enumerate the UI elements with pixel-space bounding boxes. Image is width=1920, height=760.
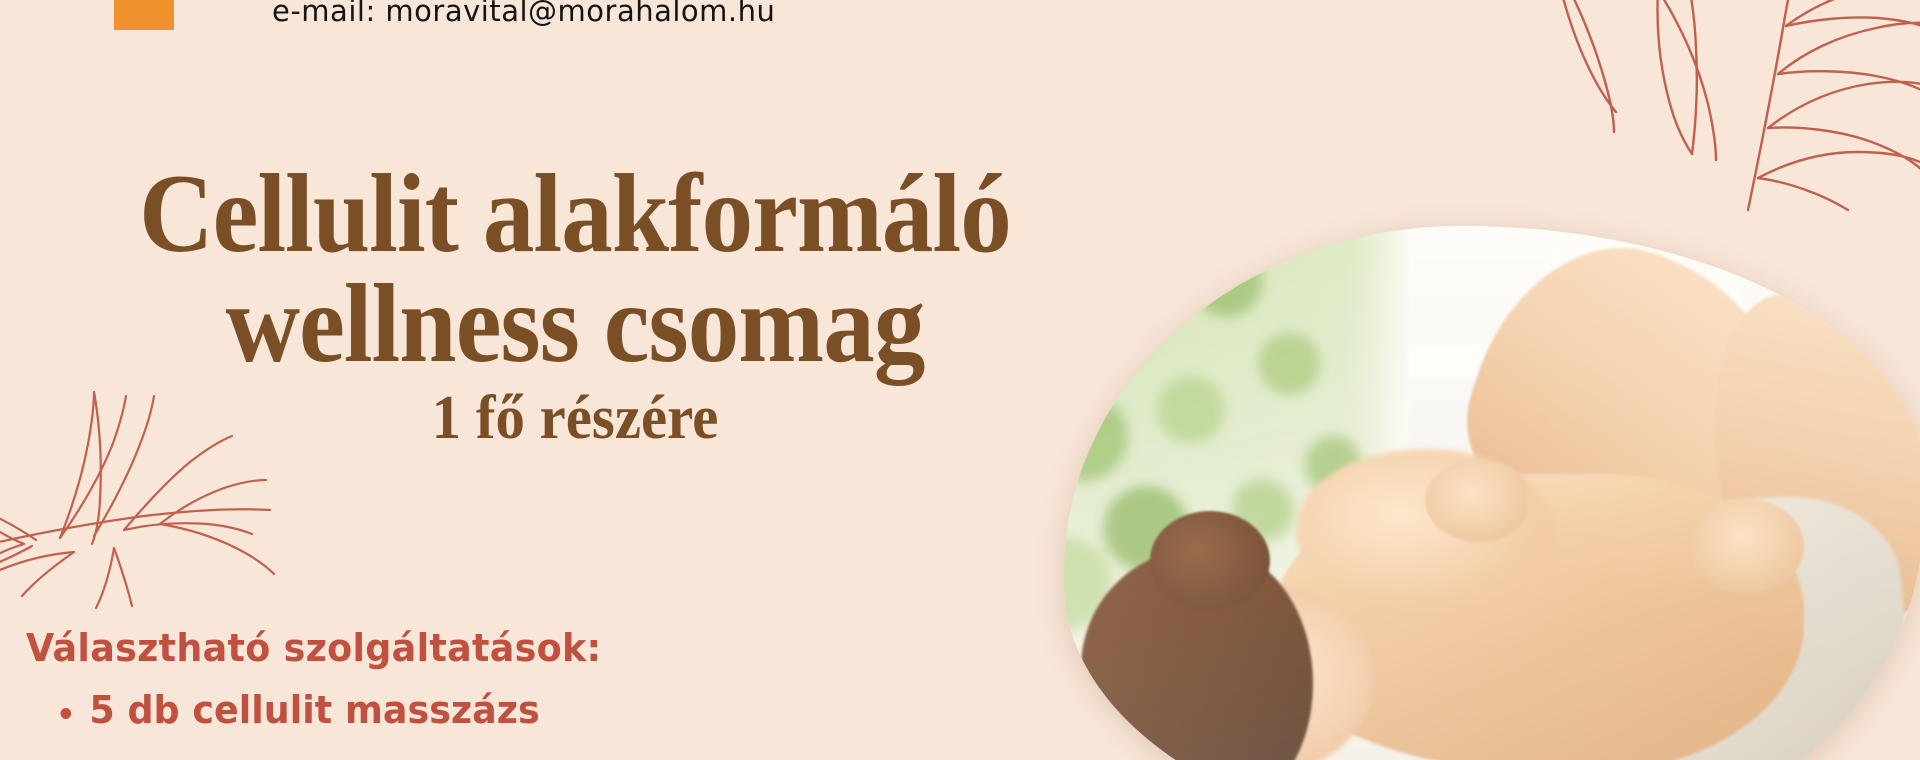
poster-title-line1: Cellulit alakformáló — [139, 152, 1011, 276]
massage-photo-frame — [1064, 226, 1920, 760]
poster-canvas: e-mail: moravital@morahalom.hu Cellulit … — [0, 0, 1920, 760]
poster-title: Cellulit alakformáló wellness csomag — [46, 160, 1104, 380]
leaf-branch-icon — [1510, 0, 1920, 212]
services-list: 5 db cellulit masszázs — [26, 686, 926, 735]
photo-warm-overlay — [1064, 226, 1920, 760]
leaf-branch-icon — [0, 388, 294, 628]
services-title: Választható szolgáltatások: — [26, 628, 890, 670]
email-contact-line: e-mail: moravital@morahalom.hu — [272, 0, 775, 28]
list-item: 5 db cellulit masszázs — [26, 686, 890, 735]
orange-square-decoration — [114, 0, 174, 30]
services-section: Választható szolgáltatások: 5 db celluli… — [26, 628, 926, 734]
massage-photo — [1064, 226, 1920, 760]
poster-title-line2: wellness csomag — [46, 270, 1104, 380]
